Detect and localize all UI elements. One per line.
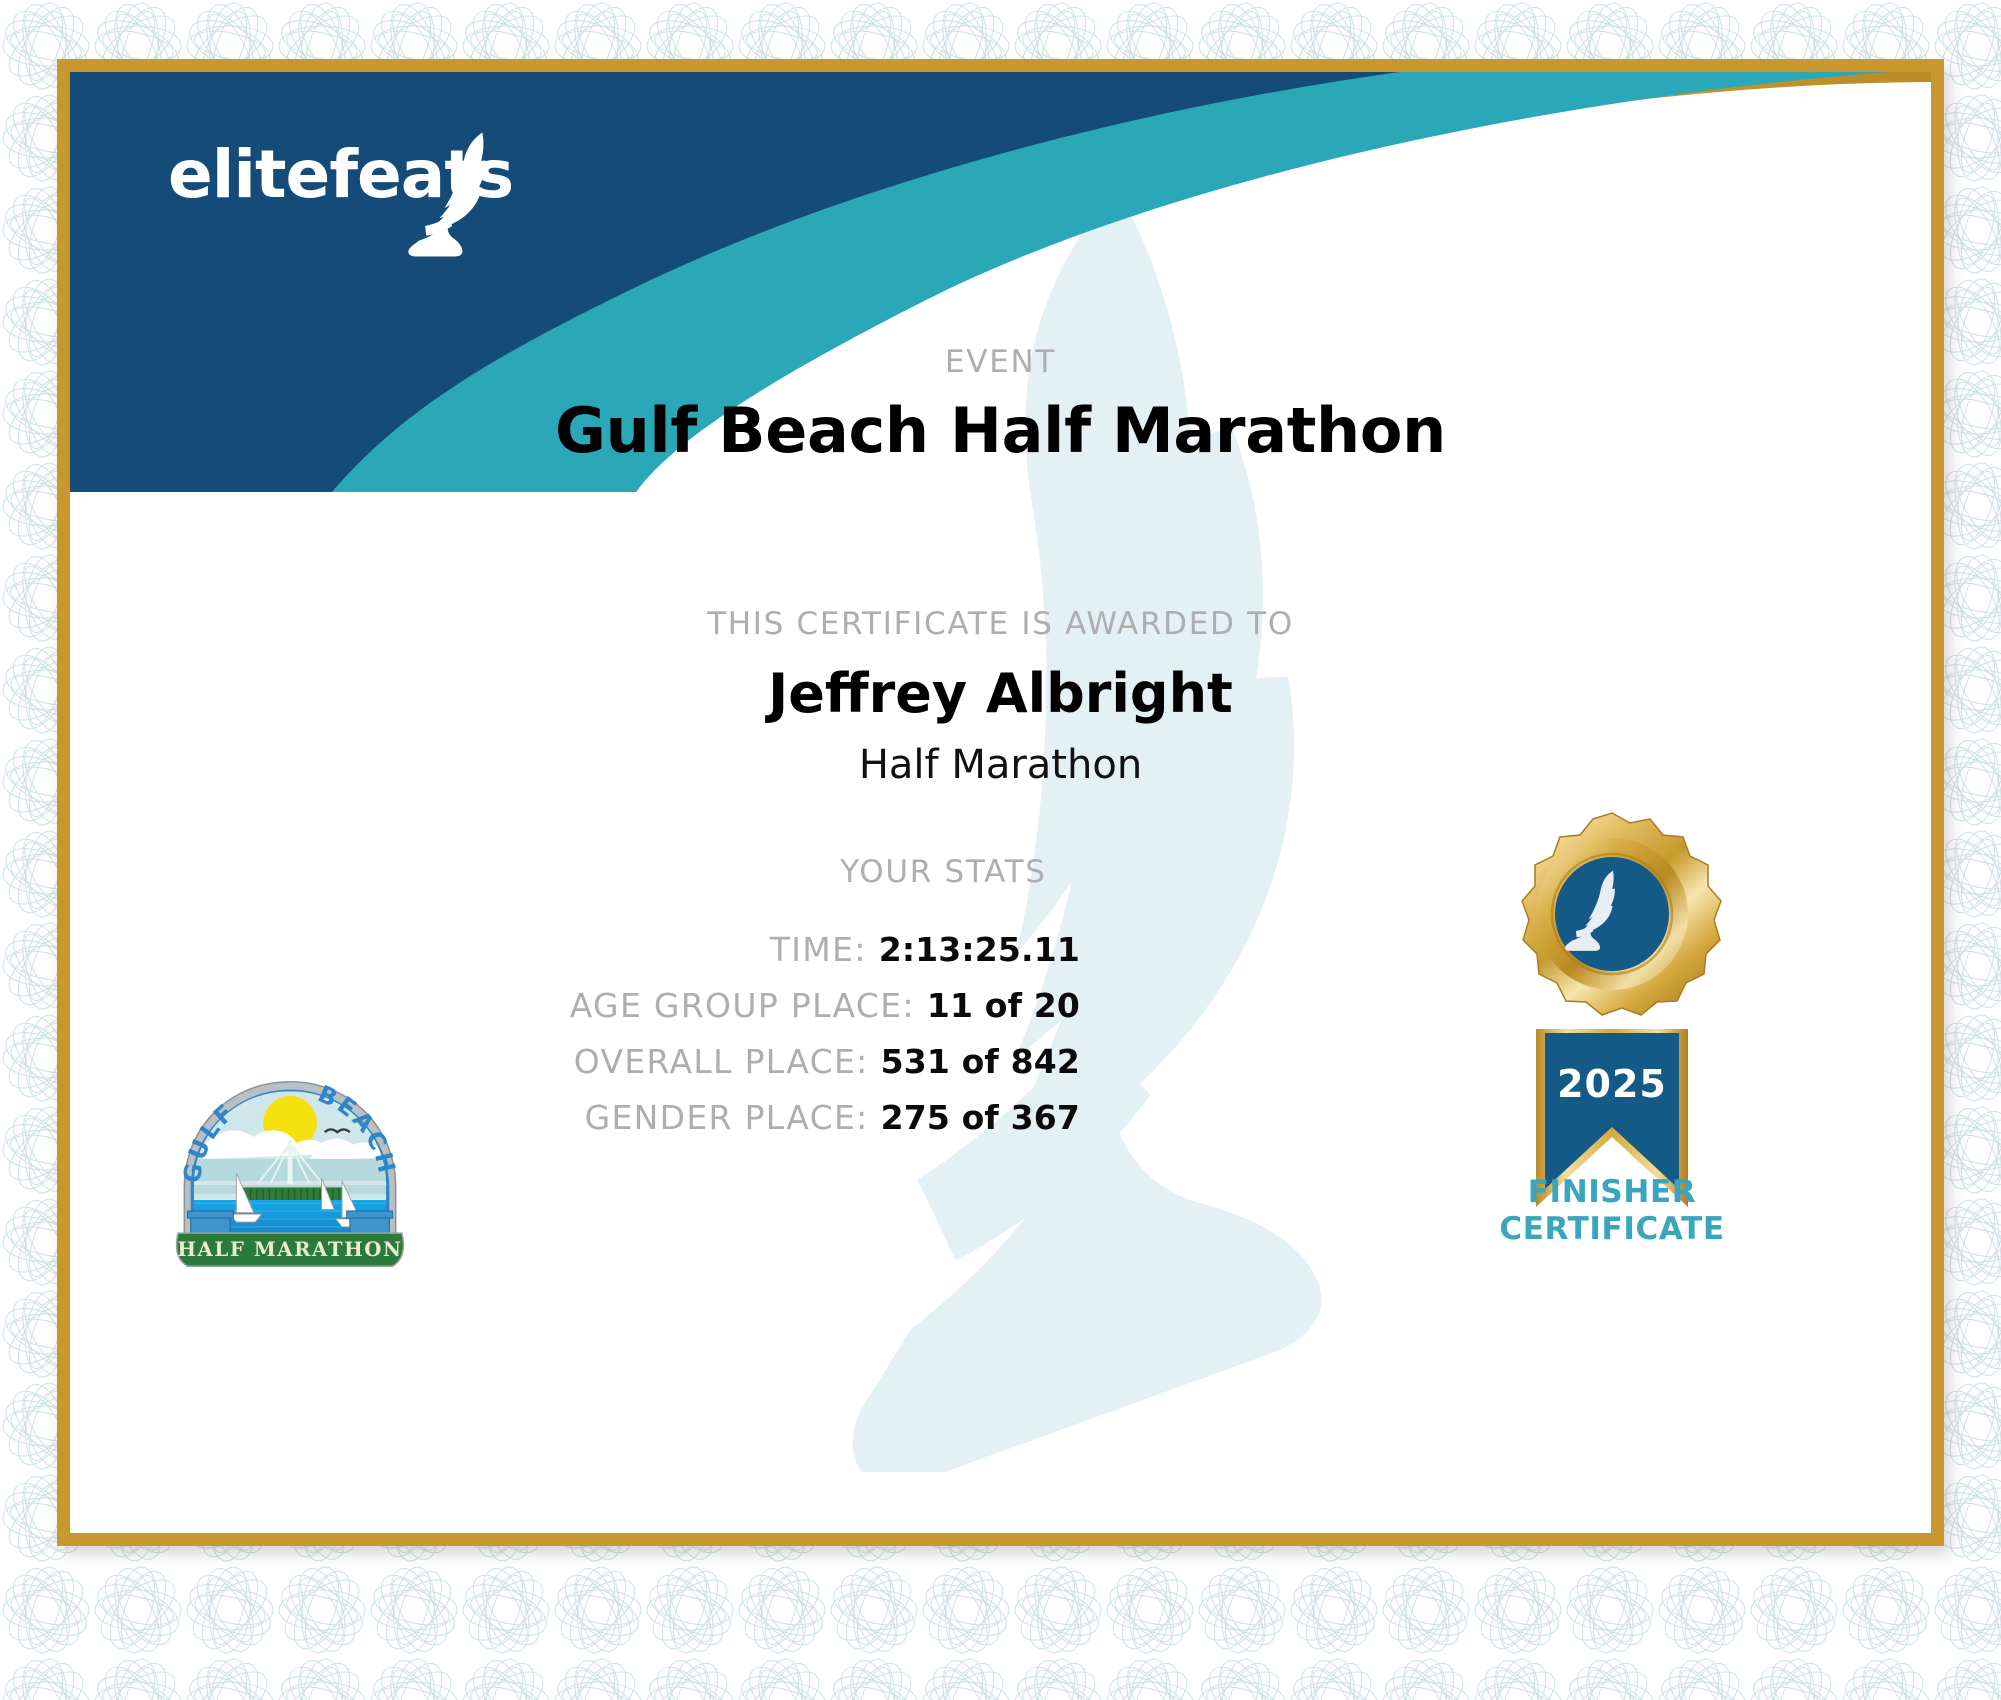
event-label: EVENT <box>70 344 1931 380</box>
stat-label-time: TIME: <box>770 930 867 969</box>
award-seal-year: 2025 <box>1557 1062 1667 1106</box>
event-title: Gulf Beach Half Marathon <box>70 394 1931 467</box>
event-badge-logo: GULF BEACH HALF MARATHON <box>155 1077 425 1282</box>
awarded-to-label: THIS CERTIFICATE IS AWARDED TO <box>70 606 1931 642</box>
stat-value-overall-place: 531 of 842 <box>881 1042 1080 1081</box>
certificate-page: elitefeats EVENT Gulf Beach Half Maratho… <box>70 72 1931 1533</box>
finisher-caption-line-1: FINISHER <box>1422 1174 1802 1211</box>
stat-row-time: TIME: 2:13:25.11 <box>70 930 1080 986</box>
stat-row-age-group-place: AGE GROUP PLACE: 11 of 20 <box>70 986 1080 1042</box>
stat-label-gender-place: GENDER PLACE: <box>585 1098 869 1137</box>
certificate-content: EVENT Gulf Beach Half Marathon THIS CERT… <box>70 72 1931 1533</box>
finisher-certificate-caption: FINISHER CERTIFICATE <box>1422 1174 1802 1247</box>
stat-value-time: 2:13:25.11 <box>879 930 1080 969</box>
medal-rosette <box>1522 813 1721 1015</box>
stat-value-gender-place: 275 of 367 <box>881 1098 1080 1137</box>
stat-value-age-group-place: 11 of 20 <box>927 986 1080 1025</box>
finisher-caption-line-2: CERTIFICATE <box>1422 1211 1802 1248</box>
recipient-name: Jeffrey Albright <box>70 662 1931 725</box>
stat-label-overall-place: OVERALL PLACE: <box>574 1042 869 1081</box>
recipient-division: Half Marathon <box>70 742 1931 788</box>
certificate-card: elitefeats EVENT Gulf Beach Half Maratho… <box>57 59 1944 1546</box>
stat-label-age-group-place: AGE GROUP PLACE: <box>570 986 915 1025</box>
badge-banner-text: HALF MARATHON <box>177 1237 402 1261</box>
